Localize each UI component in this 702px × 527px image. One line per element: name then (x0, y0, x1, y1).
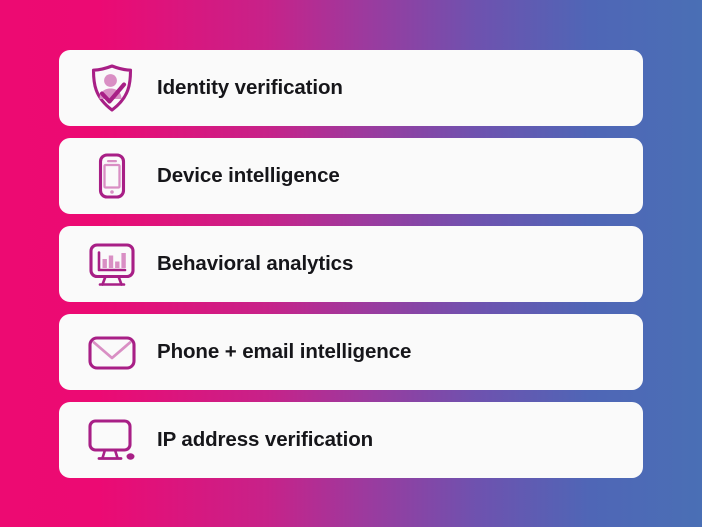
feature-card-label: Behavioral analytics (157, 252, 353, 276)
feature-card-behavioral-analytics[interactable]: Behavioral analytics (59, 226, 643, 302)
feature-card-label: Identity verification (157, 76, 343, 100)
feature-card-label: Device intelligence (157, 164, 340, 188)
feature-card-phone-email-intelligence[interactable]: Phone + email intelligence (59, 314, 643, 390)
feature-card-device-intelligence[interactable]: Device intelligence (59, 138, 643, 214)
monitor-bar-chart-icon (81, 236, 143, 292)
feature-card-ip-address-verification[interactable]: IP address verification (59, 402, 643, 478)
feature-card-label: Phone + email intelligence (157, 340, 411, 364)
feature-card-list: Identity verification Device intelligenc… (59, 50, 643, 478)
envelope-icon (81, 324, 143, 380)
feature-card-label: IP address verification (157, 428, 373, 452)
feature-card-identity-verification[interactable]: Identity verification (59, 50, 643, 126)
desktop-monitor-mouse-icon (81, 412, 143, 468)
gradient-background: Identity verification Device intelligenc… (0, 0, 702, 527)
smartphone-icon (81, 148, 143, 204)
shield-person-check-icon (81, 60, 143, 116)
